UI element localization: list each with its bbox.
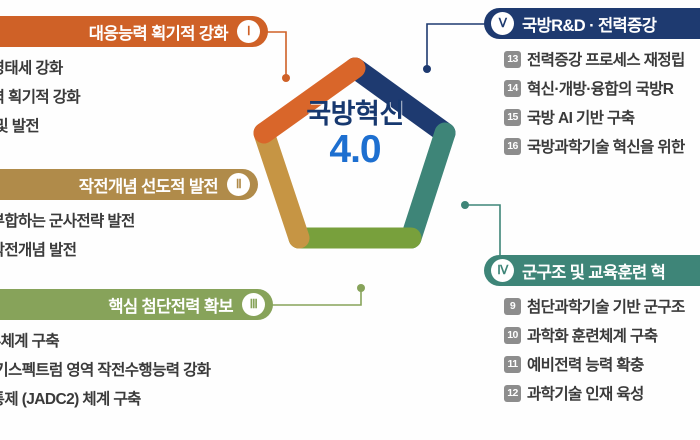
- list-item[interactable]: 복합전투체계 구축: [0, 329, 273, 351]
- pillar-3-title: 핵심 첨단전력 확보: [108, 293, 233, 317]
- list-item[interactable]: 12 과학기술 인재 육성: [504, 382, 700, 404]
- item-number: 14: [504, 80, 521, 97]
- pillar-4-block: Ⅳ 군구조 및 교육훈련 혁 9 첨단과학기술 기반 군구조 10 과학화 훈련…: [484, 255, 700, 404]
- pillar-5-item-list: 13 전력증강 프로세스 재정립 14 혁신·개방·융합의 국방R 15 국방 …: [484, 48, 700, 157]
- pillar-2-block: 작전개념 선도적 발전 Ⅱ 환경에 부합하는 군사전략 발전 기반의 작전개념 …: [0, 169, 258, 260]
- item-number: 13: [504, 51, 521, 68]
- item-text: 환경에 부합하는 군사전략 발전: [0, 209, 135, 231]
- item-text: 국방과학기술 혁신을 위한: [527, 135, 685, 157]
- pillar-1-block: 대응능력 획기적 강화 Ⅰ 체계 운영태세 강화 체계 능력 획기적 강화 부 …: [0, 16, 268, 136]
- item-text: 복합전투체계 구축: [0, 329, 59, 351]
- list-item[interactable]: 체계 능력 획기적 강화: [0, 85, 268, 107]
- list-item[interactable]: 역 지휘통제 (JADC2) 체계 구축: [0, 387, 273, 409]
- pillar-5-title: 국방R&D · 전력증강: [522, 12, 656, 36]
- logo-title: 국방혁신: [250, 100, 460, 128]
- list-item[interactable]: 14 혁신·개방·융합의 국방R: [504, 77, 700, 99]
- pillar-1-item-list: 체계 운영태세 강화 체계 능력 획기적 강화 부 창설 및 발전: [0, 56, 268, 136]
- pillar-4-header[interactable]: Ⅳ 군구조 및 교육훈련 혁: [484, 255, 700, 286]
- list-item[interactable]: 부 창설 및 발전: [0, 114, 268, 136]
- infographic-canvas: 국방혁신 4.0 대응능력 획기적 강화 Ⅰ 체계 운영태세 강화 체계 능력 …: [0, 0, 700, 440]
- item-number: 9: [504, 298, 521, 315]
- item-text: 체계 능력 획기적 강화: [0, 85, 80, 107]
- pillar-2-title: 작전개념 선도적 발전: [79, 173, 218, 197]
- pillar-4-item-list: 9 첨단과학기술 기반 군구조 10 과학화 훈련체계 구축 11 예비전력 능…: [484, 295, 700, 404]
- pillar-3-header[interactable]: 핵심 첨단전력 확보 Ⅲ: [0, 289, 273, 320]
- item-number: 12: [504, 385, 521, 402]
- item-text: 첨단과학기술 기반 군구조: [527, 295, 685, 317]
- list-item[interactable]: 버, 전자기스펙트럼 영역 작전수행능력 강화: [0, 358, 273, 380]
- pillar-2-header[interactable]: 작전개념 선도적 발전 Ⅱ: [0, 169, 258, 200]
- item-text: 부 창설 및 발전: [0, 114, 39, 136]
- pillar-2-item-list: 환경에 부합하는 군사전략 발전 기반의 작전개념 발전: [0, 209, 258, 260]
- pillar-1-numeral-badge: Ⅰ: [237, 20, 260, 43]
- item-text: 혁신·개방·융합의 국방R: [527, 77, 673, 99]
- item-text: 예비전력 능력 확충: [527, 353, 644, 375]
- pillar-3-numeral-badge: Ⅲ: [242, 293, 265, 316]
- pillar-1-header[interactable]: 대응능력 획기적 강화 Ⅰ: [0, 16, 268, 47]
- list-item[interactable]: 13 전력증강 프로세스 재정립: [504, 48, 700, 70]
- item-number: 16: [504, 138, 521, 155]
- logo-version: 4.0: [250, 130, 460, 169]
- list-item[interactable]: 16 국방과학기술 혁신을 위한: [504, 135, 700, 157]
- list-item[interactable]: 15 국방 AI 기반 구축: [504, 106, 700, 128]
- pillar-1-title: 대응능력 획기적 강화: [89, 20, 228, 44]
- list-item[interactable]: 10 과학화 훈련체계 구축: [504, 324, 700, 346]
- item-number: 15: [504, 109, 521, 126]
- pillar-3-block: 핵심 첨단전력 확보 Ⅲ 복합전투체계 구축 버, 전자기스펙트럼 영역 작전수…: [0, 289, 273, 409]
- list-item[interactable]: 11 예비전력 능력 확충: [504, 353, 700, 375]
- item-text: 과학기술 인재 육성: [527, 382, 644, 404]
- pillar-4-title: 군구조 및 교육훈련 혁: [522, 259, 665, 283]
- list-item[interactable]: 기반의 작전개념 발전: [0, 238, 258, 260]
- pillar-5-header[interactable]: Ⅴ 국방R&D · 전력증강: [484, 8, 700, 39]
- pillar-5-block: Ⅴ 국방R&D · 전력증강 13 전력증강 프로세스 재정립 14 혁신·개방…: [484, 8, 700, 157]
- item-text: 전력증강 프로세스 재정립: [527, 48, 685, 70]
- pillar-2-numeral-badge: Ⅱ: [227, 173, 250, 196]
- item-number: 11: [504, 356, 521, 373]
- item-text: 버, 전자기스펙트럼 영역 작전수행능력 강화: [0, 358, 210, 380]
- item-text: 체계 운영태세 강화: [0, 56, 63, 78]
- list-item[interactable]: 체계 운영태세 강화: [0, 56, 268, 78]
- center-logo: 국방혁신 4.0: [250, 100, 460, 169]
- item-text: 기반의 작전개념 발전: [0, 238, 76, 260]
- pillar-4-numeral-badge: Ⅳ: [491, 259, 514, 282]
- item-text: 과학화 훈련체계 구축: [527, 324, 657, 346]
- pillar-3-item-list: 복합전투체계 구축 버, 전자기스펙트럼 영역 작전수행능력 강화 역 지휘통제…: [0, 329, 273, 409]
- item-number: 10: [504, 327, 521, 344]
- item-text: 역 지휘통제 (JADC2) 체계 구축: [0, 387, 141, 409]
- pillar-5-numeral-badge: Ⅴ: [491, 12, 514, 35]
- list-item[interactable]: 환경에 부합하는 군사전략 발전: [0, 209, 258, 231]
- item-text: 국방 AI 기반 구축: [527, 106, 634, 128]
- list-item[interactable]: 9 첨단과학기술 기반 군구조: [504, 295, 700, 317]
